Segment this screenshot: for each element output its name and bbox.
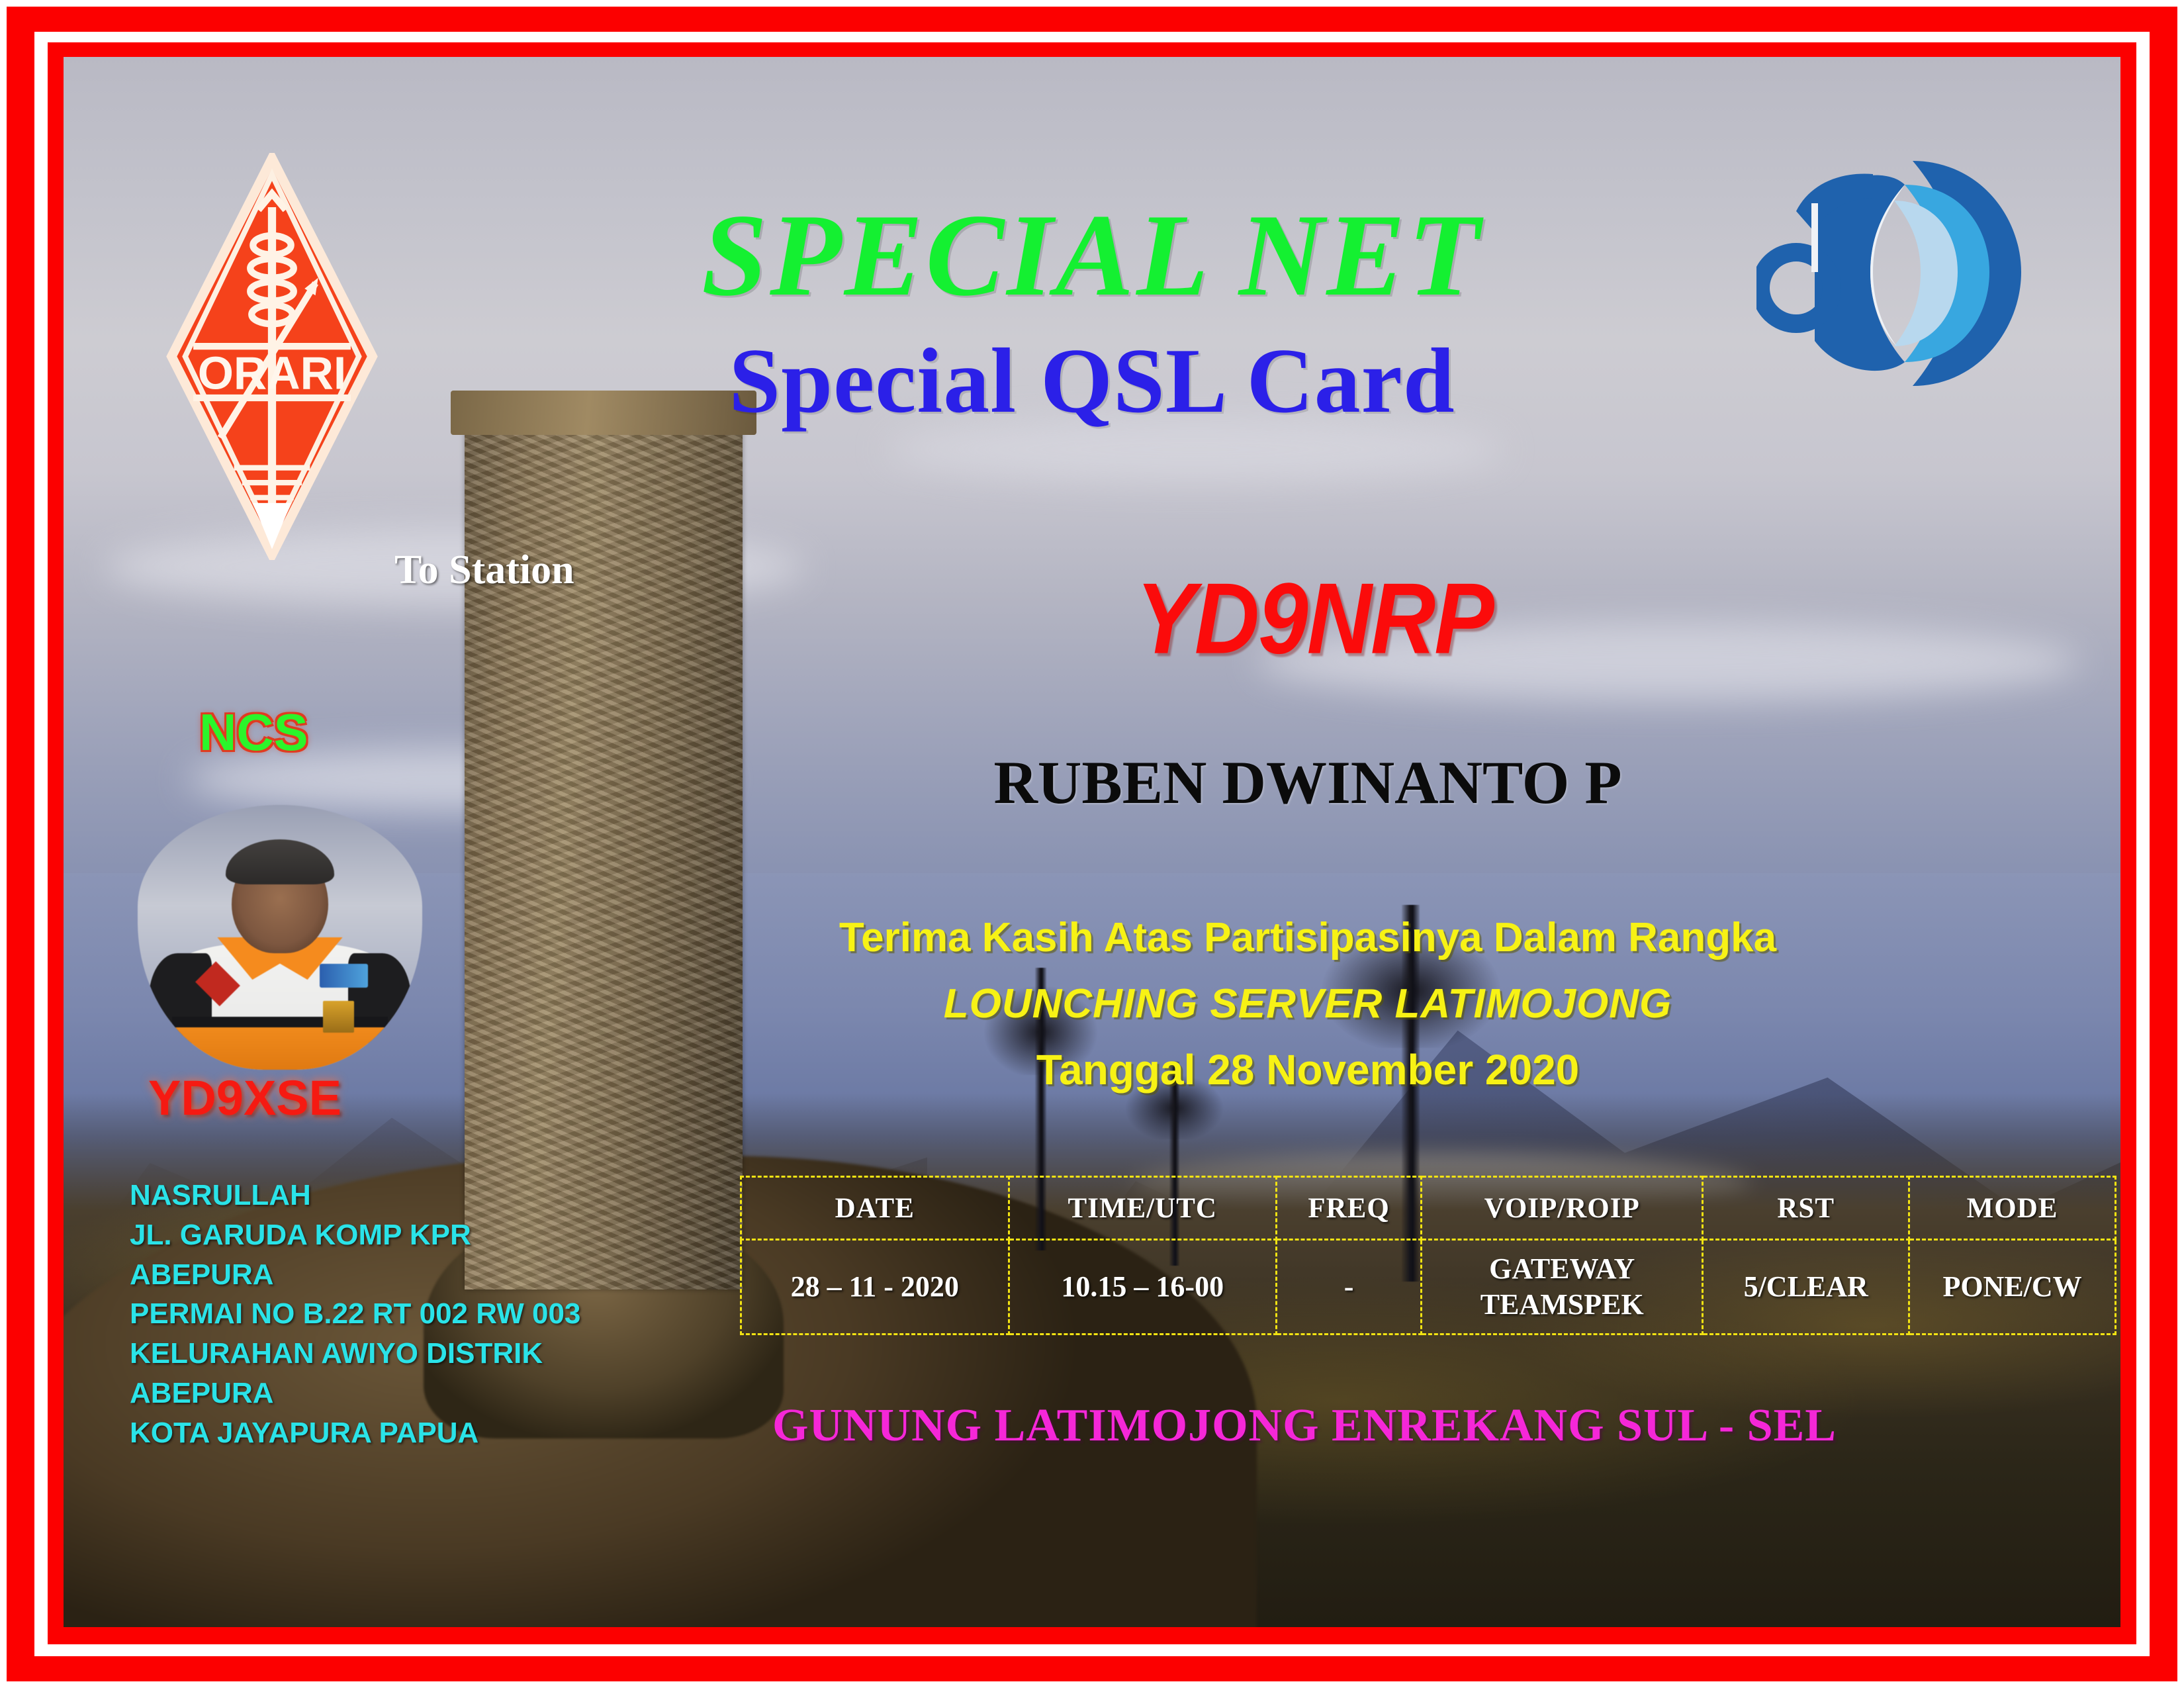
qso-log-table: DATE TIME/UTC FREQ VOIP/ROIP RST MODE 28… — [740, 1176, 2116, 1335]
cell-date: 28 – 11 - 2020 — [741, 1240, 1009, 1335]
cell-time: 10.15 – 16-00 — [1009, 1240, 1277, 1335]
table-header-row: DATE TIME/UTC FREQ VOIP/ROIP RST MODE — [741, 1177, 2116, 1240]
thanks-line-2: LOUNCHING SERVER LATIMOJONG — [792, 984, 1824, 1025]
club-motto: "AMATIR RADIO ADALAH PROGRESIVE" — [143, 1626, 1072, 1627]
page-title-special-net: SPECIAL NET — [64, 196, 2120, 314]
col-header-time: TIME/UTC — [1009, 1177, 1277, 1240]
col-header-voip: VOIP/ROIP — [1422, 1177, 1703, 1240]
col-header-date: DATE — [741, 1177, 1009, 1240]
table-row: 28 – 11 - 2020 10.15 – 16-00 - GATEWAY T… — [741, 1240, 2116, 1335]
to-station-label: To Station — [394, 547, 574, 594]
col-header-mode: MODE — [1909, 1177, 2116, 1240]
station-address-block: NASRULLAH JL. GARUDA KOMP KPR ABEPURA PE… — [130, 1176, 672, 1453]
qsl-card: ORARI — [0, 0, 2184, 1688]
ncs-callsign: YD9XSE — [148, 1070, 341, 1126]
thanks-line-3: Tanggal 28 November 2020 — [792, 1049, 1824, 1091]
address-line: PERMAI NO B.22 RT 002 RW 003 — [130, 1294, 672, 1334]
col-header-freq: FREQ — [1277, 1177, 1422, 1240]
address-line: ABEPURA — [130, 1255, 672, 1295]
cell-mode: PONE/CW — [1909, 1240, 2116, 1335]
cell-voip: GATEWAY TEAMSPEK — [1422, 1240, 1703, 1335]
operator-name: RUBEN DWINANTO P — [844, 752, 1771, 813]
card-background-photo: ORARI — [64, 57, 2120, 1627]
ncs-operator-avatar — [138, 805, 422, 1070]
event-location: GUNUNG LATIMOJONG ENREKANG SUL - SEL — [659, 1399, 1950, 1452]
address-line: ABEPURA — [130, 1374, 672, 1413]
address-line: JL. GARUDA KOMP KPR — [130, 1215, 672, 1255]
cell-rst: 5/CLEAR — [1703, 1240, 1909, 1335]
content-layer: ORARI — [64, 57, 2120, 1627]
recipient-callsign: YD9NRP — [977, 568, 1652, 669]
address-line: KELURAHAN AWIYO DISTRIK — [130, 1334, 672, 1374]
col-header-rst: RST — [1703, 1177, 1909, 1240]
ncs-label: NCS — [199, 702, 308, 763]
thanks-line-1: Terima Kasih Atas Partisipasinya Dalam R… — [792, 917, 1824, 959]
address-line: NASRULLAH — [130, 1176, 672, 1215]
page-subtitle-special-qsl: Special QSL Card — [64, 335, 2120, 428]
website-address: Address : amatir.latimojong.com — [1341, 1626, 1971, 1627]
address-line: KOTA JAYAPURA PAPUA — [130, 1413, 672, 1453]
cell-freq: - — [1277, 1240, 1422, 1335]
